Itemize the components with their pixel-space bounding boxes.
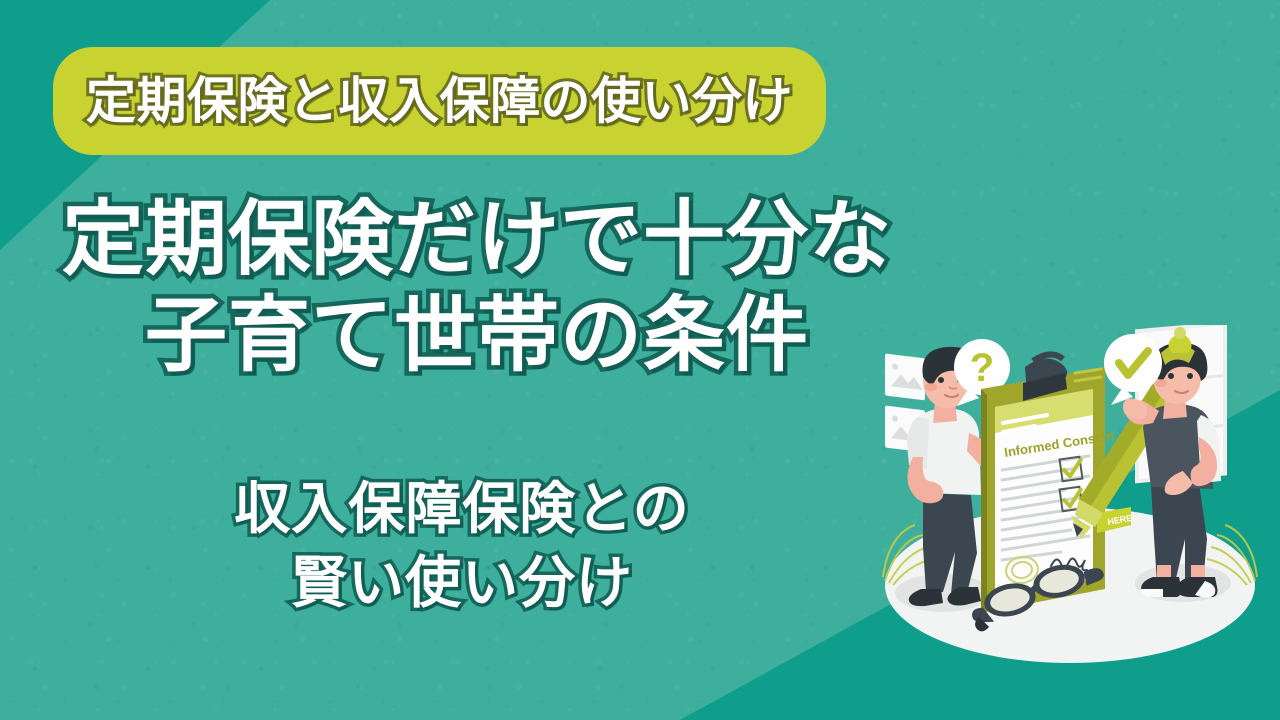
slide-canvas: 定期保険と収入保障の使い分け 定期保険だけで十分な 子育て世帯の条件 収入保障保… xyxy=(0,0,1280,720)
category-badge: 定期保険と収入保障の使い分け xyxy=(53,47,826,155)
headline-line-2: 子育て世帯の条件 xyxy=(62,288,892,384)
hero-illustration: ? Informed Consent xyxy=(865,325,1275,665)
headline-line-1: 定期保険だけで十分な xyxy=(62,192,892,288)
page-subtitle: 収入保障保険との 賢い使い分け xyxy=(62,472,862,621)
sneaker-left xyxy=(1141,577,1182,597)
subheadline-line-1: 収入保障保険との xyxy=(62,472,862,546)
category-badge-label: 定期保険と収入保障の使い分け xyxy=(86,76,793,126)
subheadline-line-2: 賢い使い分け xyxy=(62,546,862,620)
svg-text:?: ? xyxy=(970,346,994,390)
sneaker-right xyxy=(1177,577,1218,598)
page-title: 定期保険だけで十分な 子育て世帯の条件 xyxy=(62,192,892,384)
